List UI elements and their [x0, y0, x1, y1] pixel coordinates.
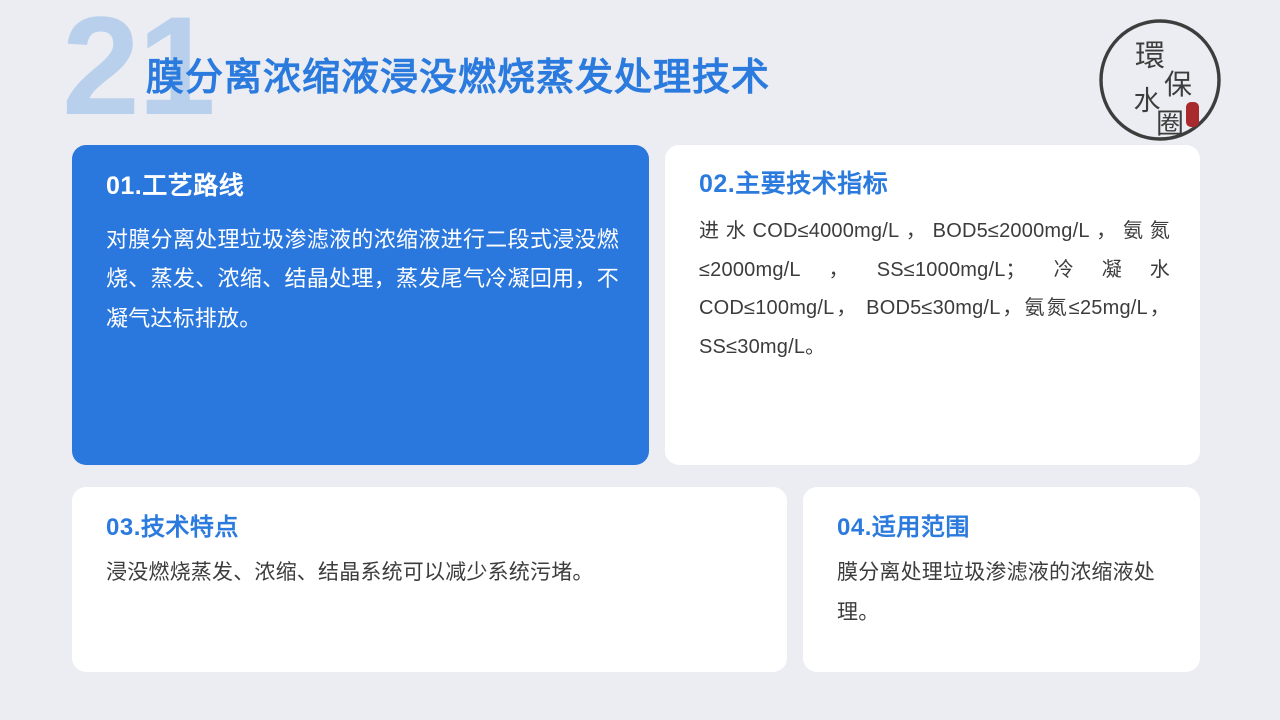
card-01-title: 01.工艺路线: [106, 171, 619, 202]
card-04-body: 膜分离处理垃圾渗滤液的浓缩液处理。: [837, 553, 1170, 633]
card-04-title: 04.适用范围: [837, 513, 1170, 543]
card-03-technical-features[interactable]: 03.技术特点 浸没燃烧蒸发、浓缩、结晶系统可以减少系统污堵。: [72, 487, 787, 672]
card-02-body: 进水COD≤4000mg/L，BOD5≤2000mg/L，氨氮 ≤2000mg/…: [699, 212, 1170, 366]
slide-header: 21 膜分离浓缩液浸没燃烧蒸发处理技术: [0, 0, 1280, 145]
page-title: 膜分离浓缩液浸没燃烧蒸发处理技术: [146, 58, 770, 100]
card-04-application-scope[interactable]: 04.适用范围 膜分离处理垃圾渗滤液的浓缩液处理。: [803, 487, 1200, 672]
card-01-process-route[interactable]: 01.工艺路线 对膜分离处理垃圾渗滤液的浓缩液进行二段式浸没燃烧、蒸发、浓缩、结…: [72, 145, 649, 465]
slide-root: 21 膜分离浓缩液浸没燃烧蒸发处理技术 環 保 水 圈 01.工艺路线 对膜分离…: [0, 0, 1280, 720]
card-02-title: 02.主要技术指标: [699, 169, 1170, 200]
logo-char-bao-icon: 保: [1164, 68, 1192, 101]
logo-char-quan-icon: 圈: [1156, 107, 1184, 140]
logo-seal-icon: [1186, 102, 1199, 127]
card-02-technical-indicators[interactable]: 02.主要技术指标 进水COD≤4000mg/L，BOD5≤2000mg/L，氨…: [665, 145, 1200, 465]
logo-char-huan-icon: 環: [1135, 39, 1165, 74]
card-03-title: 03.技术特点: [106, 513, 757, 543]
card-03-body: 浸没燃烧蒸发、浓缩、结晶系统可以减少系统污堵。: [106, 553, 757, 593]
brand-logo: 環 保 水 圈: [1092, 12, 1228, 148]
card-01-body: 对膜分离处理垃圾渗滤液的浓缩液进行二段式浸没燃烧、蒸发、浓缩、结晶处理，蒸发尾气…: [106, 220, 619, 337]
